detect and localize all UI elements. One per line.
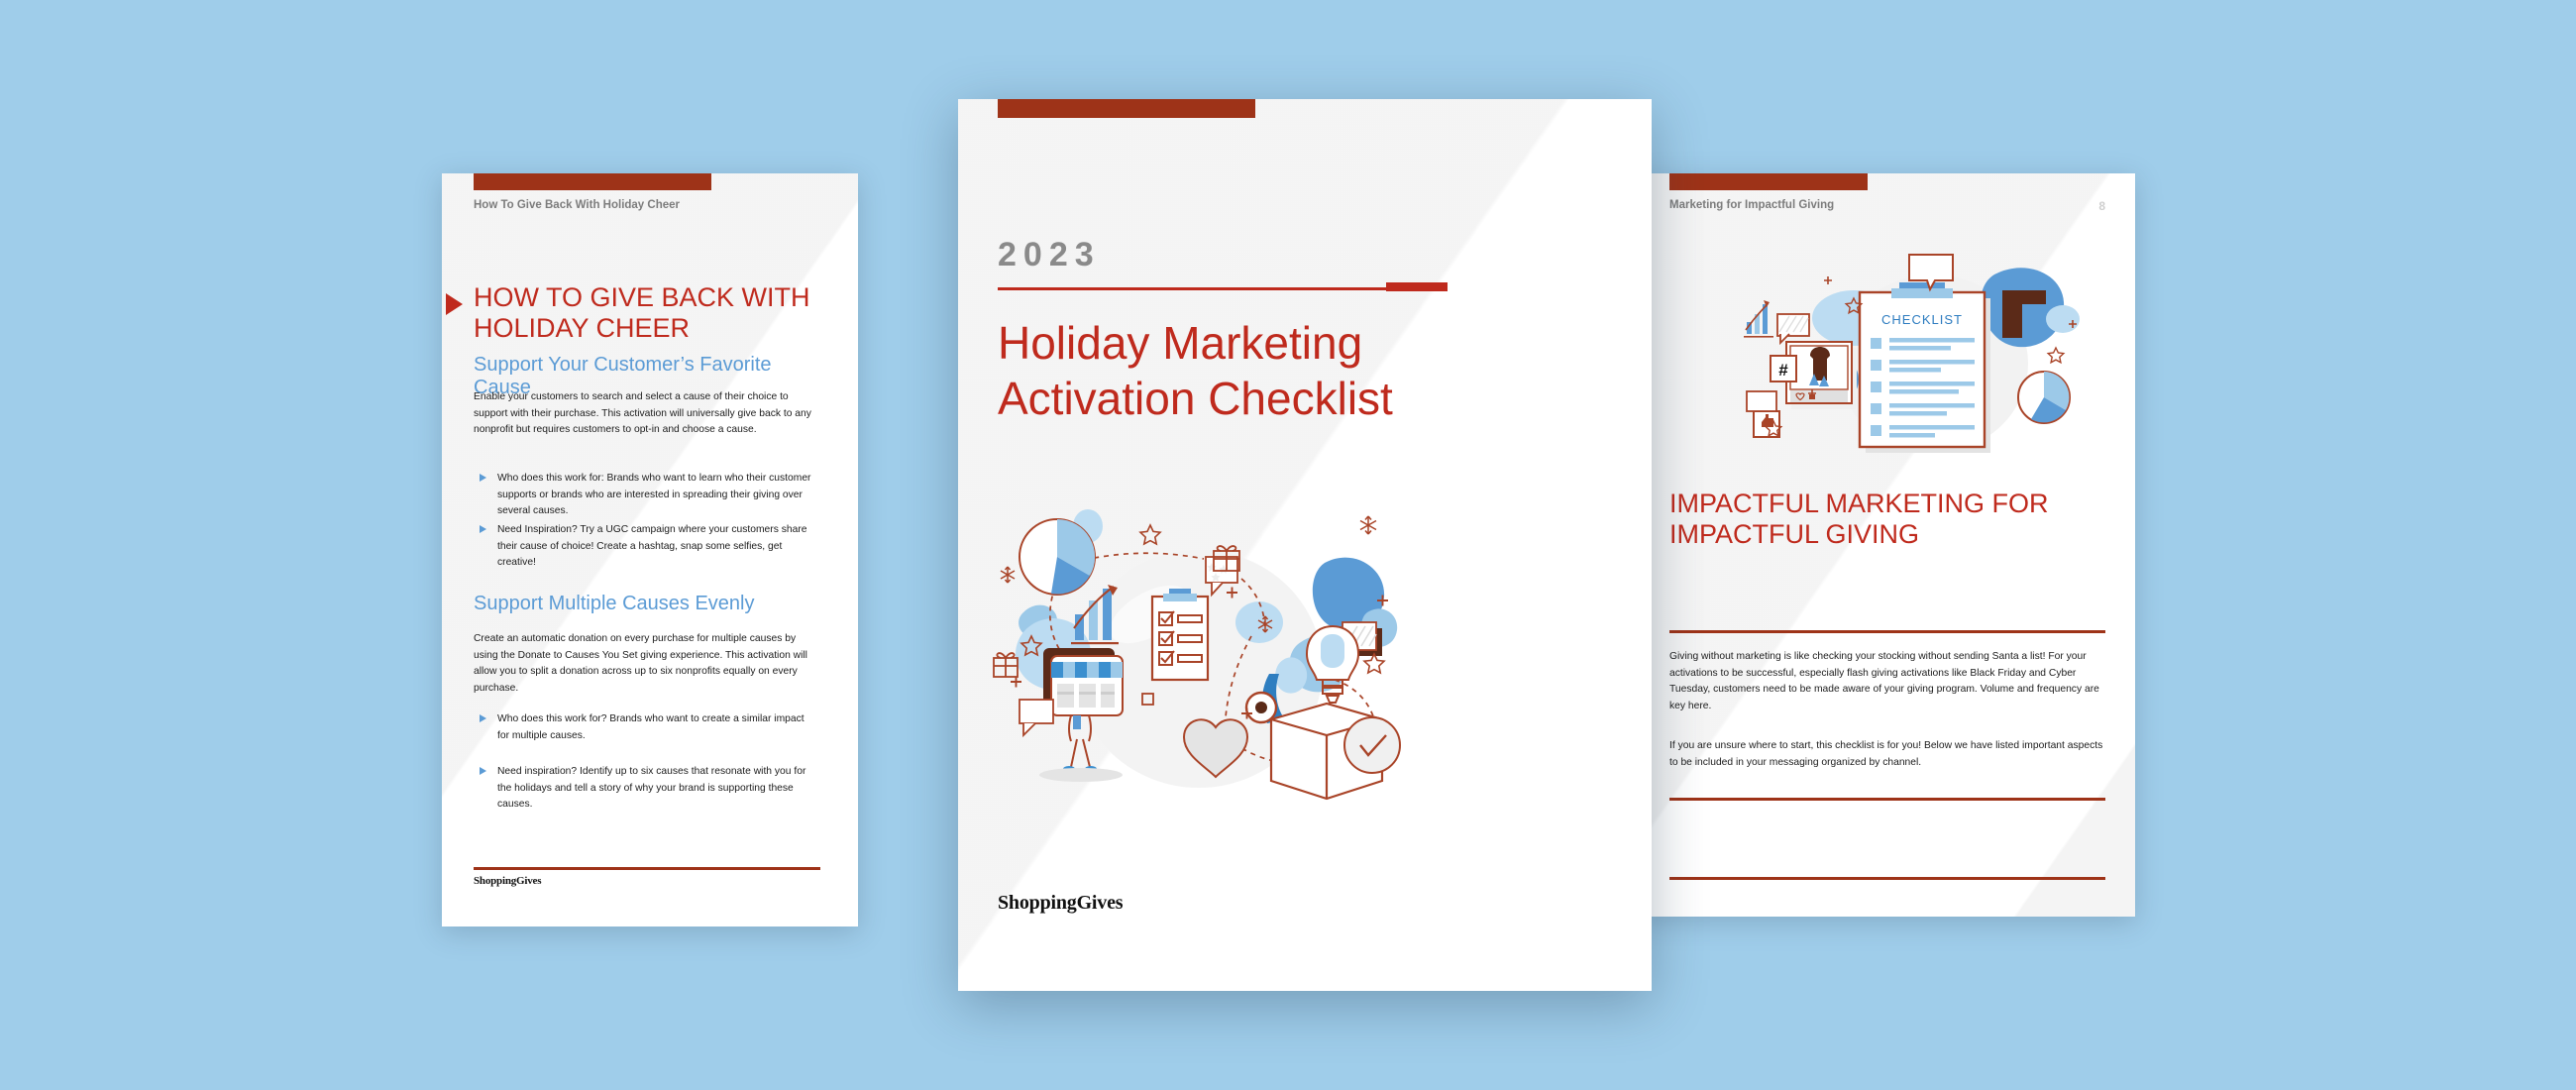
bullet-triangle-icon <box>480 525 486 533</box>
hashtag-glyph: # <box>1778 361 1788 380</box>
bullet-triangle-icon <box>480 474 486 482</box>
section-paragraph-1: Enable your customers to search and sele… <box>474 389 815 439</box>
page-center-cover[interactable]: 2023 Holiday Marketing Activation Checkl… <box>958 99 1652 991</box>
divider-rule-top <box>1669 630 2105 633</box>
section-paragraph-2: Create an automatic donation on every pu… <box>474 631 815 698</box>
document-preview-stage: How To Give Back With Holiday Cheer HOW … <box>0 0 2576 1090</box>
page-right[interactable]: Marketing for Impactful Giving 8 <box>1640 173 2135 917</box>
brand-logo: ShoppingGives <box>474 875 541 887</box>
checklist-illustration: CHECKLIST <box>1759 253 2086 466</box>
list-item-text: Need inspiration? Identify up to six cau… <box>497 766 805 810</box>
cover-accent-bar <box>998 99 1255 118</box>
clipboard-title-text: CHECKLIST <box>1881 312 1963 327</box>
page-title: IMPACTFUL MARKETING FOR IMPACTFUL GIVING <box>1669 489 2125 551</box>
page-left[interactable]: How To Give Back With Holiday Cheer HOW … <box>442 173 858 926</box>
list-item: Who does this work for: Brands who want … <box>497 471 816 520</box>
page-header-label: Marketing for Impactful Giving <box>1669 199 1834 211</box>
footer-rule <box>474 867 820 870</box>
cover-illustration <box>986 495 1412 803</box>
bullet-triangle-icon <box>480 714 486 722</box>
divider-rule-bottom <box>1669 877 2105 880</box>
cover-year: 2023 <box>998 236 1101 274</box>
header-accent-bar <box>474 173 711 190</box>
bullet-triangle-icon <box>480 767 486 775</box>
list-item-text: Need Inspiration? Try a UGC campaign whe… <box>497 524 806 568</box>
triangle-bullet-icon <box>446 293 463 315</box>
cover-title: Holiday Marketing Activation Checklist <box>998 315 1592 426</box>
list-item: Need inspiration? Identify up to six cau… <box>497 764 816 814</box>
brand-logo: ShoppingGives <box>998 892 1123 915</box>
body-paragraph-1: Giving without marketing is like checkin… <box>1669 649 2103 715</box>
section-subheading-2: Support Multiple Causes Evenly <box>474 593 820 615</box>
header-accent-bar <box>1669 173 1868 190</box>
body-paragraph-2: If you are unsure where to start, this c… <box>1669 738 2103 771</box>
page-number: 8 <box>2098 199 2105 213</box>
list-item-text: Who does this work for? Brands who want … <box>497 713 805 741</box>
cover-rule-thick <box>1386 282 1448 291</box>
page-title: HOW TO GIVE BACK WITH HOLIDAY CHEER <box>474 282 820 345</box>
page-header-label: How To Give Back With Holiday Cheer <box>474 199 680 211</box>
list-item: Need Inspiration? Try a UGC campaign whe… <box>497 522 816 572</box>
cover-rule-thin <box>998 287 1414 290</box>
list-item: Who does this work for? Brands who want … <box>497 711 816 744</box>
list-item-text: Who does this work for: Brands who want … <box>497 473 810 516</box>
divider-rule-middle <box>1669 798 2105 801</box>
